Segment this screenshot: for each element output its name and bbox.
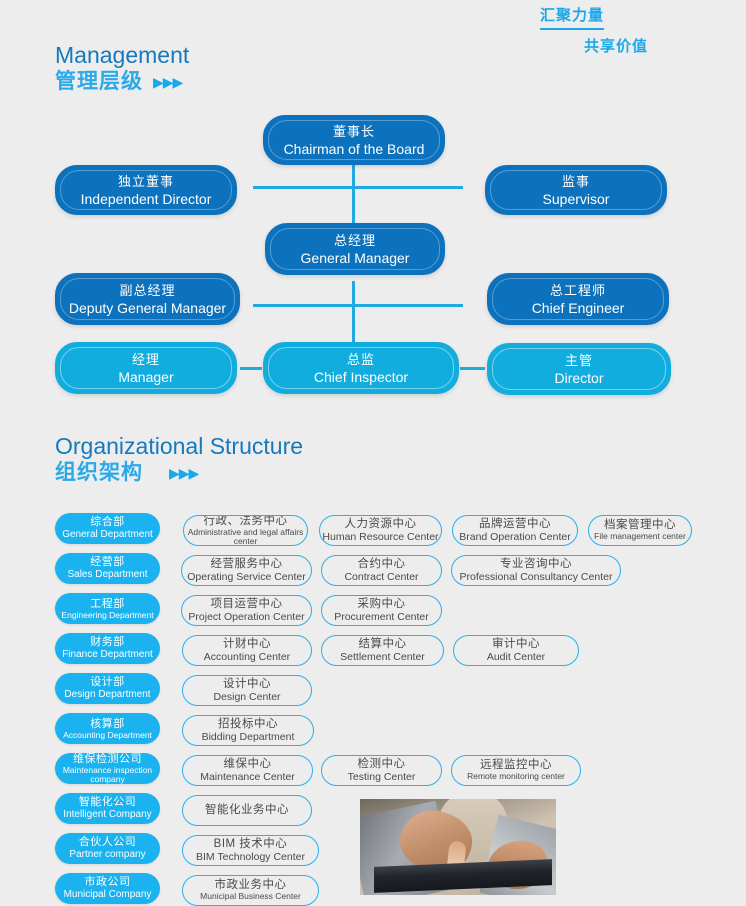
department-pill-en: Municipal Company [64, 889, 152, 901]
center-pill-cn: 采购中心 [358, 598, 406, 611]
center-pill-cn: 招投标中心 [218, 718, 278, 731]
center-pill-en: Procurement Center [334, 611, 429, 623]
center-pill[interactable]: 人力资源中心Human Resource Center [319, 515, 442, 546]
slogan-line-2: 共享价值 [548, 35, 648, 56]
center-pill[interactable]: BIM 技术中心BIM Technology Center [182, 835, 319, 866]
connector-manager-left [240, 367, 262, 370]
node-manager-en: Manager [118, 368, 173, 386]
center-pill-cn: 计财中心 [223, 638, 271, 651]
center-pill[interactable]: 检测中心Testing Center [321, 755, 442, 786]
center-pill-en: Municipal Business Center [200, 892, 301, 902]
center-pill-cn: 结算中心 [359, 638, 407, 651]
node-supervisor-cn: 监事 [562, 173, 590, 190]
node-director-cn: 主管 [565, 352, 593, 369]
center-pill-cn: 专业咨询中心 [500, 558, 572, 571]
department-pill-en: Design Department [64, 689, 150, 701]
center-pill[interactable]: 招投标中心Bidding Department [182, 715, 314, 746]
center-pill[interactable]: 品牌运营中心Brand Operation Center [452, 515, 578, 546]
center-pill[interactable]: 智能化业务中心 [182, 795, 312, 826]
center-pill-cn: 行政、法务中心 [204, 515, 288, 528]
department-pill-en: Finance Department [62, 649, 153, 661]
center-pill[interactable]: 采购中心Procurement Center [321, 595, 442, 626]
department-pill-cn: 设计部 [90, 676, 125, 689]
department-pill[interactable]: 核算部Accounting Department [55, 713, 160, 744]
node-chief-engineer-cn: 总工程师 [550, 282, 606, 299]
department-pill[interactable]: 设计部Design Department [55, 673, 160, 704]
center-pill-en: BIM Technology Center [196, 851, 305, 863]
center-pill-cn: 智能化业务中心 [205, 796, 289, 825]
node-chairman-en: Chairman of the Board [284, 140, 425, 158]
node-independent-director-en: Independent Director [81, 190, 212, 208]
center-pill-cn: 项目运营中心 [211, 598, 283, 611]
department-pill[interactable]: 综合部General Department [55, 513, 160, 544]
department-pill-cn: 核算部 [90, 718, 125, 731]
node-chief-inspector-cn: 总监 [347, 351, 375, 368]
center-pill-en: Settlement Center [340, 651, 425, 663]
center-pill-en: Testing Center [348, 771, 416, 783]
triple-arrow-icon: ▶▶▶ [169, 460, 198, 486]
department-pill[interactable]: 合伙人公司Partner company [55, 833, 160, 864]
center-pill-en: Remote monitoring center [467, 772, 565, 782]
department-pill-cn: 工程部 [90, 598, 125, 611]
center-pill-en: Administrative and legal affairs center [184, 528, 307, 547]
department-pill[interactable]: 财务部Finance Department [55, 633, 160, 664]
organization-title-en: Organizational Structure [55, 433, 303, 460]
hands-on-tablet-photo [360, 799, 556, 895]
management-org-chart: 董事长 Chairman of the Board 独立董事 Independe… [0, 105, 746, 405]
center-pill-en: Human Resource Center [322, 531, 438, 543]
department-pill-cn: 财务部 [90, 636, 125, 649]
department-pill-cn: 经营部 [90, 556, 125, 569]
center-pill-en: Audit Center [487, 651, 545, 663]
center-pill-cn: 合约中心 [358, 558, 406, 571]
connector-gm-inspector [352, 281, 355, 343]
node-manager-cn: 经理 [132, 351, 160, 368]
center-pill[interactable]: 维保中心Maintenance Center [182, 755, 313, 786]
center-pill-en: Accounting Center [204, 651, 290, 663]
department-pill-en: Sales Department [67, 569, 147, 581]
connector-row-deputy [253, 304, 463, 307]
node-deputy-gm-cn: 副总经理 [119, 282, 175, 299]
center-pill[interactable]: 经营服务中心Operating Service Center [181, 555, 312, 586]
center-pill-cn: 设计中心 [223, 678, 271, 691]
center-pill-cn: 维保中心 [224, 758, 272, 771]
department-pill-en: Engineering Department [61, 611, 153, 620]
center-pill-cn: 品牌运营中心 [479, 518, 551, 531]
center-pill[interactable]: 专业咨询中心Professional Consultancy Center [451, 555, 621, 586]
department-pill-cn: 综合部 [90, 516, 125, 529]
department-pill-cn: 合伙人公司 [79, 836, 137, 849]
department-pill-cn: 智能化公司 [79, 796, 137, 809]
center-pill[interactable]: 远程监控中心Remote monitoring center [451, 755, 581, 786]
center-pill[interactable]: 行政、法务中心Administrative and legal affairs … [183, 515, 308, 546]
connector-chairman-gm [352, 163, 355, 225]
node-general-manager-en: General Manager [301, 249, 410, 267]
node-supervisor[interactable]: 监事 Supervisor [485, 165, 667, 215]
node-general-manager-cn: 总经理 [334, 232, 376, 249]
center-pill-en: Project Operation Center [188, 611, 304, 623]
node-deputy-general-manager[interactable]: 副总经理 Deputy General Manager [55, 273, 240, 325]
center-pill[interactable]: 设计中心Design Center [182, 675, 312, 706]
node-chief-inspector[interactable]: 总监 Chief Inspector [263, 342, 459, 394]
triple-arrow-icon: ▶▶▶ [153, 69, 182, 95]
center-pill-en: Maintenance Center [200, 771, 295, 783]
center-pill[interactable]: 项目运营中心Project Operation Center [181, 595, 312, 626]
node-director[interactable]: 主管 Director [487, 343, 671, 395]
center-pill-en: Professional Consultancy Center [460, 571, 613, 583]
node-independent-director-cn: 独立董事 [118, 173, 174, 190]
node-manager[interactable]: 经理 Manager [55, 342, 237, 394]
organization-section-heading: Organizational Structure 组织架构 ▶▶▶ [55, 433, 303, 486]
connector-director-right [460, 367, 485, 370]
node-director-en: Director [554, 369, 603, 387]
center-pill[interactable]: 市政业务中心Municipal Business Center [182, 875, 319, 906]
department-pill-en: Maintenance inspection company [55, 766, 160, 784]
department-pill[interactable]: 智能化公司Intelligent Company [55, 793, 160, 824]
department-pill-en: General Department [62, 529, 153, 541]
center-pill-cn: BIM 技术中心 [214, 838, 288, 851]
department-pill[interactable]: 经营部Sales Department [55, 553, 160, 584]
node-chief-engineer-en: Chief Engineer [532, 299, 625, 317]
node-independent-director[interactable]: 独立董事 Independent Director [55, 165, 237, 215]
organization-title-cn: 组织架构 [55, 460, 143, 486]
node-supervisor-en: Supervisor [543, 190, 610, 208]
center-pill[interactable]: 合约中心Contract Center [321, 555, 442, 586]
center-pill-en: Bidding Department [202, 731, 295, 743]
department-pill[interactable]: 工程部Engineering Department [55, 593, 160, 624]
center-pill-en: Contract Center [344, 571, 418, 583]
center-pill-cn: 经营服务中心 [211, 558, 283, 571]
node-chairman-cn: 董事长 [333, 123, 375, 140]
center-pill-en: Operating Service Center [187, 571, 305, 583]
node-general-manager[interactable]: 总经理 General Manager [265, 223, 445, 275]
center-pill-en: Design Center [213, 691, 280, 703]
node-chief-engineer[interactable]: 总工程师 Chief Engineer [487, 273, 669, 325]
department-pill-cn: 市政公司 [85, 876, 131, 889]
brand-slogan: 汇聚力量 共享价值 [540, 4, 680, 56]
department-pill-en: Partner company [69, 849, 145, 861]
center-pill[interactable]: 计财中心Accounting Center [182, 635, 312, 666]
center-pill-en: Brand Operation Center [459, 531, 570, 543]
center-pill-cn: 人力资源中心 [345, 518, 417, 531]
department-pill-en: Intelligent Company [63, 809, 151, 821]
center-pill-cn: 审计中心 [492, 638, 540, 651]
node-chief-inspector-en: Chief Inspector [314, 368, 408, 386]
node-chairman[interactable]: 董事长 Chairman of the Board [263, 115, 445, 165]
center-pill-cn: 检测中心 [358, 758, 406, 771]
center-pill[interactable]: 审计中心Audit Center [453, 635, 579, 666]
center-pill[interactable]: 结算中心Settlement Center [321, 635, 444, 666]
slogan-line-1: 汇聚力量 [540, 4, 604, 30]
center-pill[interactable]: 档案管理中心File management center [588, 515, 692, 546]
node-deputy-gm-en: Deputy General Manager [69, 299, 226, 317]
department-pill-en: Accounting Department [63, 731, 152, 740]
management-section-heading: Management 管理层级 ▶▶▶ [55, 42, 189, 95]
management-title-cn: 管理层级 [55, 69, 143, 95]
department-pill[interactable]: 市政公司Municipal Company [55, 873, 160, 904]
management-title-en: Management [55, 42, 189, 69]
connector-row-directors [253, 186, 463, 189]
center-pill-en: File management center [594, 532, 686, 542]
department-pill[interactable]: 维保检测公司Maintenance inspection company [55, 753, 160, 784]
